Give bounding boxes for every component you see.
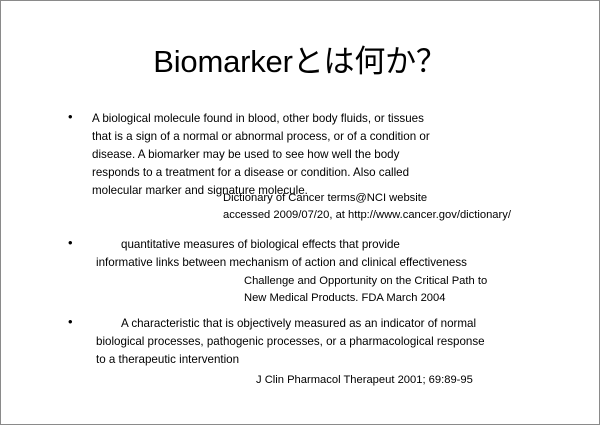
citation-fda-critical-path: Challenge and Opportunity on the Critica…: [244, 273, 487, 307]
bullet-text: A characteristic that is objectively mea…: [96, 317, 485, 366]
slide-title: Biomarkerとは何か？: [1, 44, 599, 80]
bullet-item-3: • A characteristic that is objectively m…: [63, 314, 543, 368]
bullet-row: • A biological molecule found in blood, …: [63, 109, 563, 199]
bullet-dot-icon: •: [68, 235, 73, 250]
bullet-item-2: • quantitative measures of biological ef…: [63, 235, 543, 271]
bullet-row: • A characteristic that is objectively m…: [63, 314, 543, 368]
bullet-dot-icon: •: [68, 109, 73, 124]
presentation-slide: Biomarkerとは何か？ • A biological molecule f…: [0, 0, 600, 425]
citation-j-clin-pharmacol: J Clin Pharmacol Therapeut 2001; 69:89-9…: [256, 372, 473, 389]
bullet-item-1: • A biological molecule found in blood, …: [63, 109, 563, 199]
bullet-text: quantitative measures of biological effe…: [96, 238, 467, 269]
bullet-dot-icon: •: [68, 314, 73, 329]
bullet-row: • quantitative measures of biological ef…: [63, 235, 543, 271]
citation-nci-dictionary: Dictionary of Cancer terms@NCI website a…: [223, 190, 511, 224]
bullet-text: A biological molecule found in blood, ot…: [92, 112, 430, 197]
